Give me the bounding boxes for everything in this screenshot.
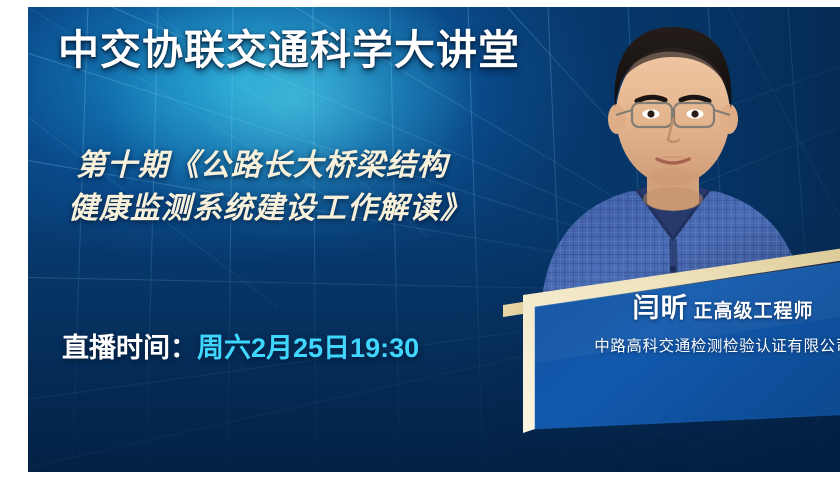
live-time-value: 周六2月25日19:30	[197, 333, 419, 363]
speaker-organization: 中路高科交通检测检验认证有限公司	[578, 334, 840, 356]
page-title: 中交协联交通科学大讲堂	[58, 29, 520, 72]
speaker-name: 闫昕	[632, 293, 688, 323]
live-time-label: 直播时间：	[62, 333, 197, 363]
session-subtitle: 第十期《公路长大桥梁结构 健康监测系统建设工作解读》	[76, 145, 471, 230]
subtitle-line-1: 第十期《公路长大桥梁结构	[76, 149, 448, 182]
live-time-row: 直播时间：周六2月25日19:30	[62, 334, 419, 364]
speaker-title: 正高级工程师	[693, 301, 813, 322]
poster-canvas: 中交协联交通科学大讲堂 第十期《公路长大桥梁结构 健康监测系统建设工作解读》 直…	[28, 7, 840, 472]
speaker-text-block: 闫昕正高级工程师 中路高科交通检测检验认证有限公司	[578, 295, 840, 356]
speaker-name-row: 闫昕正高级工程师	[578, 295, 840, 322]
speaker-info-panel: 闫昕正高级工程师 中路高科交通检测检验认证有限公司	[483, 247, 840, 437]
subtitle-line-2: 健康监测系统建设工作解读》	[68, 188, 471, 231]
